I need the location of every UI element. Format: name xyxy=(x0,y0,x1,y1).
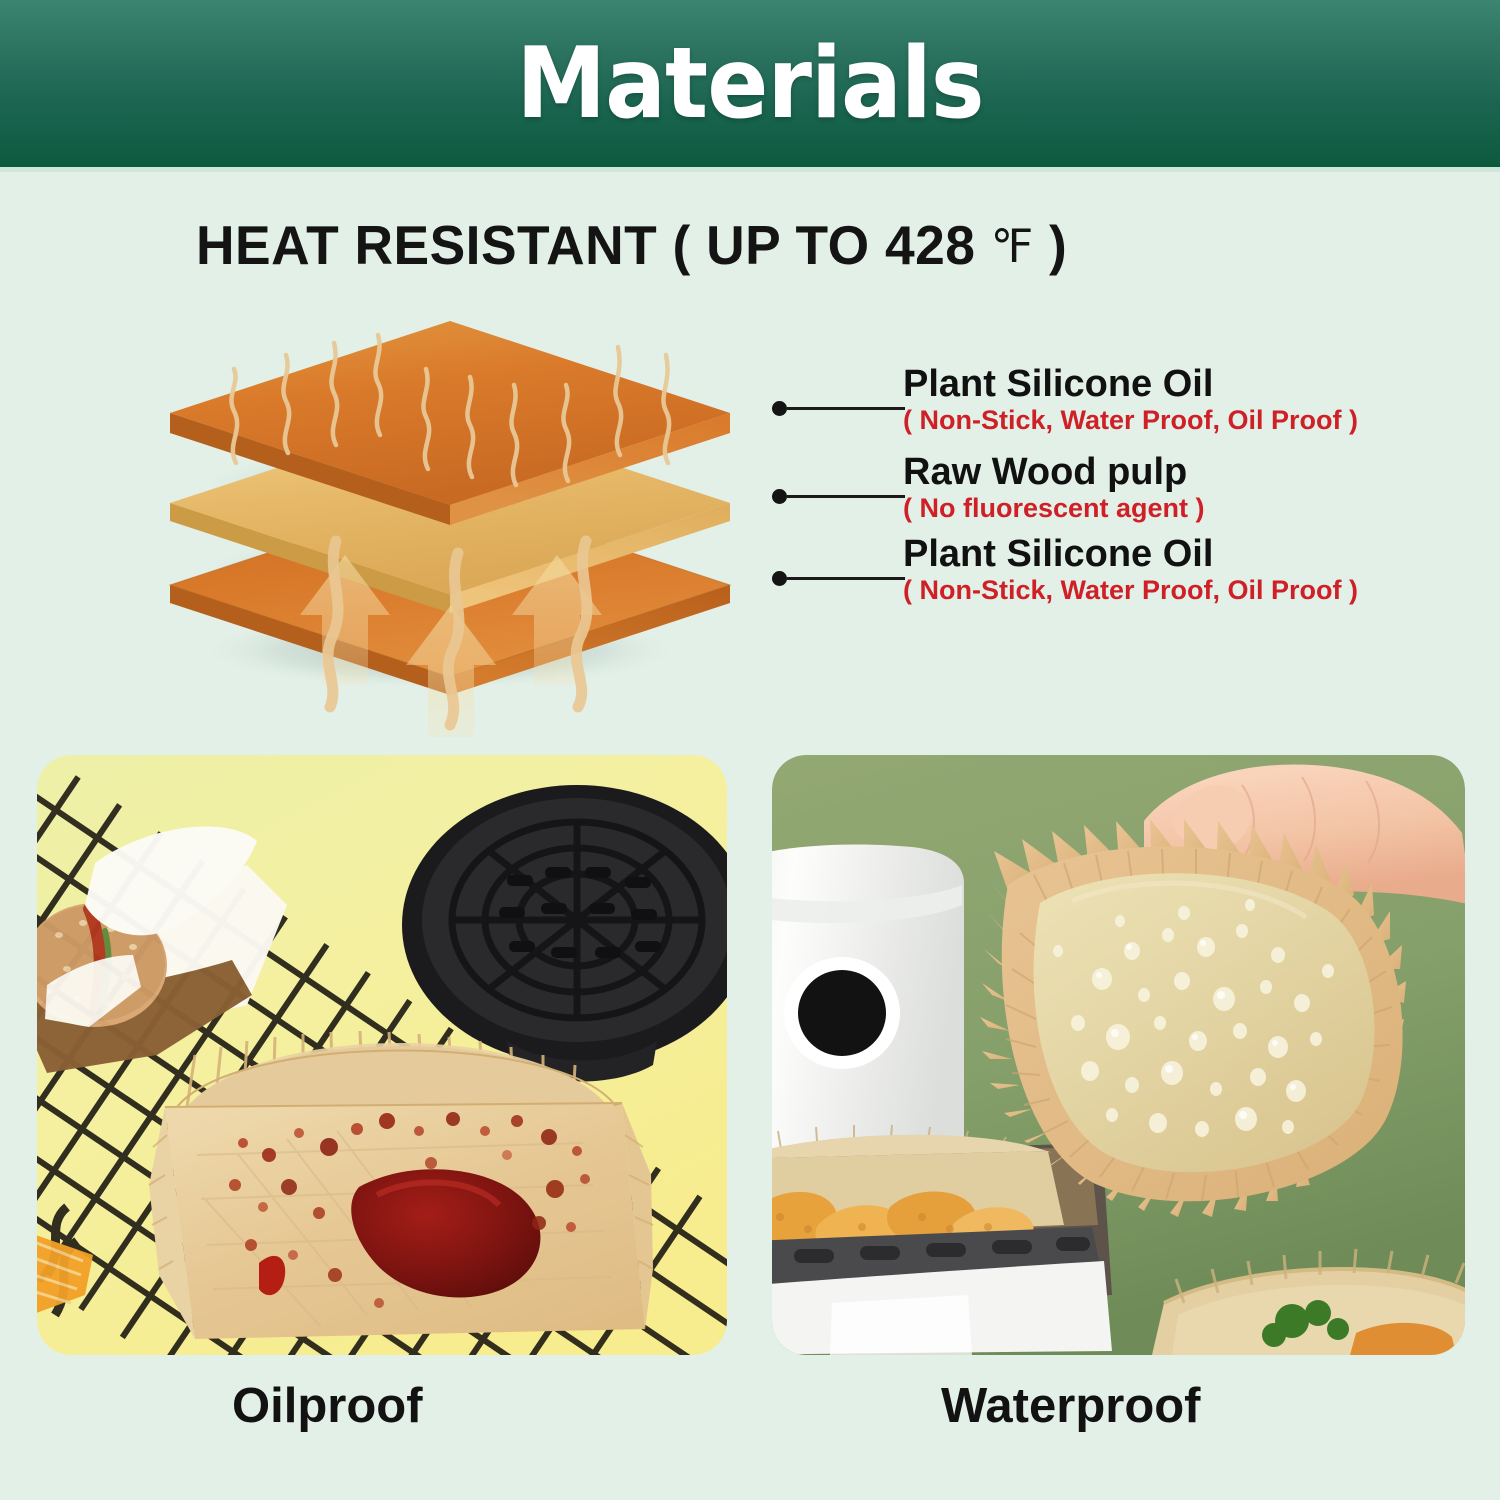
leader-dot-middle xyxy=(772,489,787,504)
photo-waterproof xyxy=(772,755,1465,1355)
leader-line-top xyxy=(787,407,905,410)
callout-top-layer: Plant Silicone Oil ( Non-Stick, Water Pr… xyxy=(903,365,1358,434)
photo-oilproof xyxy=(37,755,727,1355)
callout-top-title: Plant Silicone Oil xyxy=(903,365,1358,404)
leader-line-middle xyxy=(787,495,905,498)
callout-middle-subtitle: ( No fluorescent agent ) xyxy=(903,494,1205,522)
leader-line-bottom xyxy=(787,577,905,580)
leader-dot-top xyxy=(772,401,787,416)
caption-waterproof: Waterproof xyxy=(941,1378,1201,1434)
photo-oilproof-svg xyxy=(37,755,727,1355)
callout-bottom-layer: Plant Silicone Oil ( Non-Stick, Water Pr… xyxy=(903,535,1358,604)
photo-waterproof-svg xyxy=(772,755,1465,1355)
leader-dot-bottom xyxy=(772,571,787,586)
callout-bottom-subtitle: ( Non-Stick, Water Proof, Oil Proof ) xyxy=(903,576,1358,604)
caption-oilproof: Oilproof xyxy=(232,1378,423,1434)
callout-bottom-title: Plant Silicone Oil xyxy=(903,535,1358,574)
callout-middle-title: Raw Wood pulp xyxy=(903,453,1205,492)
fryer-dial xyxy=(798,970,886,1056)
callout-group: Plant Silicone Oil ( Non-Stick, Water Pr… xyxy=(0,0,1500,740)
callout-top-subtitle: ( Non-Stick, Water Proof, Oil Proof ) xyxy=(903,406,1358,434)
callout-middle-layer: Raw Wood pulp ( No fluorescent agent ) xyxy=(903,453,1205,522)
